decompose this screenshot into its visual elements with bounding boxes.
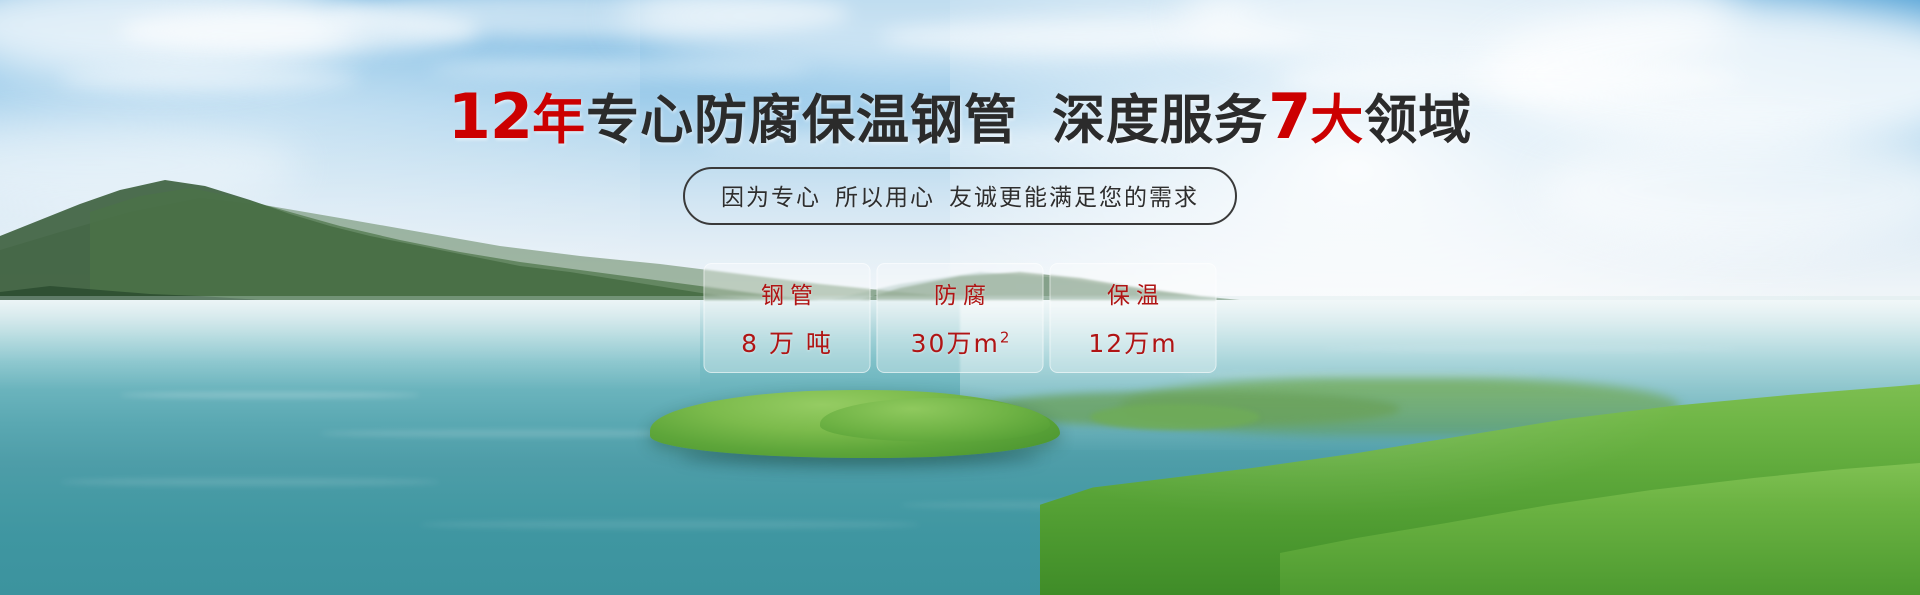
stat-card-title: 防腐 [928,276,992,310]
years-number: 12 [448,80,532,153]
stat-card-value-text: 12万m [1088,329,1177,358]
water-ripple [420,520,920,529]
water-ripple [60,478,440,486]
water-ripple [1320,346,1740,351]
stat-card-title: 保温 [1101,276,1165,310]
stat-card-value-text: 30万m [911,329,1000,358]
promo-banner: 12年专心防腐保温钢管深度服务7大领域 因为专心所以用心友诚更能满足您的需求 钢… [0,0,1920,595]
fields-number: 7 [1268,80,1310,153]
headline-main-text: 专心防腐保温钢管 [586,90,1018,151]
grass-island-secondary [820,398,1050,442]
headline-fields-suffix: 领域 [1364,90,1472,151]
stat-card-value: 8 万 吨 [741,324,833,360]
stat-card-value-superscript: 2 [1000,329,1010,347]
stat-card-insulation[interactable]: 保温 12万m [1050,263,1217,373]
headline-service-text: 深度服务 [1052,90,1268,151]
subtitle-part-3: 友诚更能满足您的需求 [949,185,1199,211]
subtitle-pill: 因为专心所以用心友诚更能满足您的需求 [683,167,1237,225]
stat-card-value: 12万m [1088,324,1177,360]
water-ripple [120,392,420,398]
subtitle-part-1: 因为专心 [721,185,821,211]
stat-card-group: 钢管 8 万 吨 防腐 30万m2 保温 12万m [704,263,1217,373]
page-title: 12年专心防腐保温钢管深度服务7大领域 [0,86,1920,148]
subtitle-part-2: 所以用心 [835,185,935,211]
stat-card-steel-pipe[interactable]: 钢管 8 万 吨 [704,263,871,373]
years-unit: 年 [532,90,586,151]
stat-card-value-text: 8 万 吨 [741,329,833,358]
fields-unit: 大 [1310,90,1364,151]
grass-island-tertiary [1090,404,1260,430]
stat-card-anticorrosion[interactable]: 防腐 30万m2 [877,263,1044,373]
water-highlight [0,300,700,390]
stat-card-value: 30万m2 [911,324,1010,360]
stat-card-title: 钢管 [755,276,819,310]
